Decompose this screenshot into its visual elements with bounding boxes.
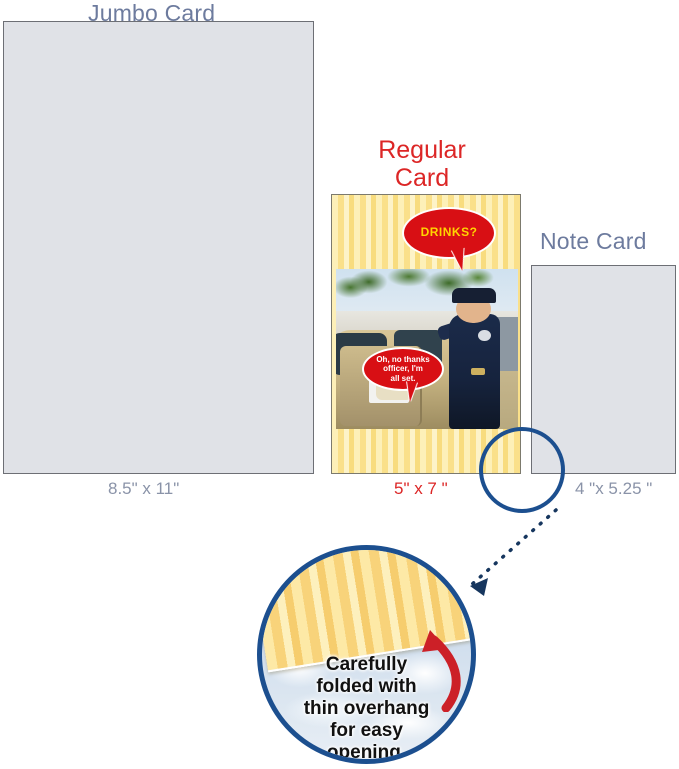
magnifier-detail-icon: Carefully folded with thin overhang for … <box>257 545 476 764</box>
regular-card-dimensions: 5" x 7 " <box>394 479 448 499</box>
card-photo: Oh, no thanks officer, I'm all set. <box>336 269 518 429</box>
photo-officer-watch <box>471 368 486 374</box>
photo-officer-badge <box>478 330 491 341</box>
regular-card-title: Regular Card <box>370 136 474 192</box>
photo-speech-bubble: Oh, no thanks officer, I'm all set. <box>362 347 444 391</box>
magnifier-callout-text: Carefully folded with thin overhang for … <box>262 654 471 764</box>
photo-officer-hat <box>452 288 496 302</box>
jumbo-card-rectangle <box>3 21 314 474</box>
magnifier-circle-icon <box>479 427 565 513</box>
regular-card-artwork: Oh, no thanks officer, I'm all set. DRIN… <box>331 194 521 474</box>
note-card-dimensions: 4 "x 5.25 " <box>575 479 652 499</box>
jumbo-card-dimensions: 8.5" x 11" <box>108 479 179 499</box>
note-card-title: Note Card <box>540 228 647 255</box>
drinks-speech-bubble: DRINKS? <box>402 207 496 259</box>
diagram-canvas: Jumbo Card 8.5" x 11" Note Card 4 "x 5.2… <box>0 0 679 769</box>
